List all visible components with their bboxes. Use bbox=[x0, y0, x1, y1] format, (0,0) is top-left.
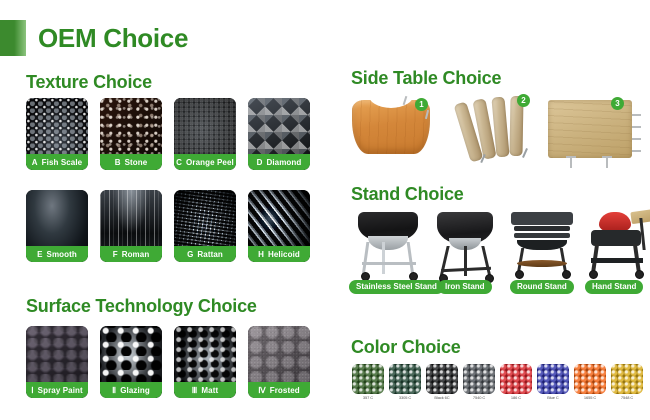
surface-label: Matt bbox=[201, 386, 218, 395]
color-swatch-7540c[interactable] bbox=[463, 364, 495, 394]
bubble-texture-overlay bbox=[389, 364, 421, 394]
color-label-black6c: Black 6C bbox=[422, 396, 462, 400]
stand-crossbar bbox=[362, 262, 416, 265]
texture-tile-fish-scale[interactable]: A Fish Scale bbox=[26, 98, 88, 170]
color-swatch-357c[interactable] bbox=[352, 364, 384, 394]
texture-label: Roman bbox=[122, 250, 150, 259]
color-label-186c: 186 C bbox=[496, 396, 536, 400]
texture-key: B bbox=[115, 158, 121, 167]
surface-key: Ⅲ bbox=[192, 386, 198, 395]
surface-tile-caption: Ⅳ Frosted bbox=[248, 382, 310, 398]
surface-key: Ⅰ bbox=[31, 386, 33, 395]
section-heading-surface-technology: Surface Technology Choice bbox=[26, 296, 257, 317]
texture-key: E bbox=[37, 250, 42, 259]
red-kamado-top bbox=[599, 212, 631, 232]
surface-label: Spray Paint bbox=[38, 386, 83, 395]
stand-leg bbox=[362, 242, 370, 276]
side-table-badge-1: 1 bbox=[415, 98, 428, 111]
texture-label: Helicoid bbox=[268, 250, 300, 259]
color-swatch-7548c[interactable] bbox=[611, 364, 643, 394]
caster-wheel bbox=[515, 270, 524, 279]
caster-wheel bbox=[635, 270, 644, 279]
texture-key: D bbox=[257, 158, 263, 167]
surface-tile-caption: Ⅱ Glazing bbox=[100, 382, 162, 398]
page-header: OEM Choice bbox=[0, 20, 188, 56]
bubble-texture-overlay bbox=[352, 364, 384, 394]
texture-label: Diamond bbox=[266, 158, 301, 167]
surface-tile-frosted[interactable]: Ⅳ Frosted bbox=[248, 326, 310, 398]
board-peg bbox=[632, 114, 641, 116]
section-heading-texture: Texture Choice bbox=[26, 72, 152, 93]
handle-bar bbox=[639, 218, 645, 250]
texture-tile-rattan[interactable]: G Rattan bbox=[174, 190, 236, 262]
bubble-texture-overlay bbox=[500, 364, 532, 394]
surface-label: Frosted bbox=[270, 386, 300, 395]
side-table-badge-3: 3 bbox=[611, 97, 624, 110]
texture-tile-stone[interactable]: B Stone bbox=[100, 98, 162, 170]
texture-tile-caption: H Helicoid bbox=[248, 246, 310, 262]
stand-option-round[interactable]: Round Stand bbox=[505, 212, 579, 284]
texture-label: Stone bbox=[125, 158, 148, 167]
color-label-3305c: 3305 C bbox=[385, 396, 425, 400]
surface-tile-caption: Ⅲ Matt bbox=[174, 382, 236, 398]
side-table-option-3[interactable]: 3 bbox=[548, 100, 648, 170]
side-table-badge-2: 2 bbox=[517, 94, 530, 107]
board-peg bbox=[632, 150, 641, 152]
section-heading-color: Color Choice bbox=[351, 337, 461, 358]
surface-tile-matt[interactable]: Ⅲ Matt bbox=[174, 326, 236, 398]
wood-shelf bbox=[517, 260, 567, 267]
header-accent-block bbox=[0, 20, 26, 56]
color-swatch-black6c[interactable] bbox=[426, 364, 458, 394]
texture-key: A bbox=[32, 158, 38, 167]
stand-option-stainless-steel[interactable]: Stainless Steel Stand bbox=[352, 212, 426, 284]
bubble-texture-overlay bbox=[463, 364, 495, 394]
surface-tile-spray-paint[interactable]: Ⅰ Spray Paint bbox=[26, 326, 88, 398]
color-label-bluec: Blue C bbox=[533, 396, 573, 400]
bubble-texture-overlay bbox=[537, 364, 569, 394]
texture-key: F bbox=[113, 250, 118, 259]
grill-lid bbox=[511, 212, 573, 225]
texture-key: G bbox=[187, 250, 193, 259]
texture-label: Orange Peel bbox=[186, 158, 234, 167]
stand-label-hand: Hand Stand bbox=[585, 280, 643, 294]
color-swatch-bluec[interactable] bbox=[537, 364, 569, 394]
surface-key: Ⅱ bbox=[112, 386, 116, 395]
texture-tile-diamond[interactable]: D Diamond bbox=[248, 98, 310, 170]
stand-label-iron: Iron Stand bbox=[438, 280, 492, 294]
bubble-texture-overlay bbox=[426, 364, 458, 394]
color-label-1655c: 1655 C bbox=[570, 396, 610, 400]
texture-tile-caption: D Diamond bbox=[248, 154, 310, 170]
stand-leg bbox=[382, 242, 385, 274]
side-table-option-2[interactable]: 2 bbox=[460, 96, 560, 166]
bubble-texture-overlay bbox=[574, 364, 606, 394]
texture-tile-caption: A Fish Scale bbox=[26, 154, 88, 170]
texture-tile-smooth[interactable]: E Smooth bbox=[26, 190, 88, 262]
surface-label: Glazing bbox=[120, 386, 150, 395]
stand-leg bbox=[407, 242, 415, 276]
grill-slat bbox=[514, 233, 570, 238]
texture-tile-caption: B Stone bbox=[100, 154, 162, 170]
texture-tile-roman[interactable]: F Roman bbox=[100, 190, 162, 262]
texture-tile-caption: G Rattan bbox=[174, 246, 236, 262]
texture-tile-helicoid[interactable]: H Helicoid bbox=[248, 190, 310, 262]
texture-tile-orange-peel[interactable]: C Orange Peel bbox=[174, 98, 236, 170]
board-peg bbox=[632, 138, 641, 140]
color-swatch-1655c[interactable] bbox=[574, 364, 606, 394]
board-leg-cap bbox=[602, 156, 612, 158]
stand-label-round: Round Stand bbox=[510, 280, 574, 294]
texture-label: Smooth bbox=[47, 250, 77, 259]
surface-key: Ⅳ bbox=[258, 386, 265, 395]
caster-wheel bbox=[589, 270, 598, 279]
stand-option-iron[interactable]: Iron Stand bbox=[429, 212, 503, 284]
texture-label: Fish Scale bbox=[42, 158, 83, 167]
color-label-7540c: 7540 C bbox=[459, 396, 499, 400]
section-heading-side-table: Side Table Choice bbox=[351, 68, 501, 89]
surface-tile-caption: Ⅰ Spray Paint bbox=[26, 382, 88, 398]
section-heading-stand: Stand Choice bbox=[351, 184, 464, 205]
texture-key: H bbox=[258, 250, 264, 259]
color-label-357c: 357 C bbox=[348, 396, 388, 400]
color-label-7548c: 7548 C bbox=[607, 396, 647, 400]
surface-tile-glazing[interactable]: Ⅱ Glazing bbox=[100, 326, 162, 398]
stand-option-hand[interactable]: Hand Stand bbox=[579, 212, 650, 284]
stand-shelf bbox=[591, 258, 643, 263]
texture-tile-caption: F Roman bbox=[100, 246, 162, 262]
side-table-option-1[interactable]: 1 bbox=[352, 100, 452, 162]
caster-wheel bbox=[562, 270, 571, 279]
texture-key: C bbox=[176, 158, 182, 167]
board-peg bbox=[632, 126, 641, 128]
color-swatch-186c[interactable] bbox=[500, 364, 532, 394]
texture-tile-caption: C Orange Peel bbox=[174, 154, 236, 170]
steel-band bbox=[368, 236, 408, 250]
board-leg-cap bbox=[566, 156, 576, 158]
texture-tile-caption: E Smooth bbox=[26, 246, 88, 262]
oem-choice-page: OEM Choice Texture Choice A Fish Scale B… bbox=[0, 0, 650, 420]
texture-label: Rattan bbox=[197, 250, 223, 259]
bubble-texture-overlay bbox=[611, 364, 643, 394]
stand-leg bbox=[464, 246, 467, 276]
page-title: OEM Choice bbox=[38, 25, 188, 51]
grill-slat bbox=[514, 226, 570, 231]
color-swatch-3305c[interactable] bbox=[389, 364, 421, 394]
